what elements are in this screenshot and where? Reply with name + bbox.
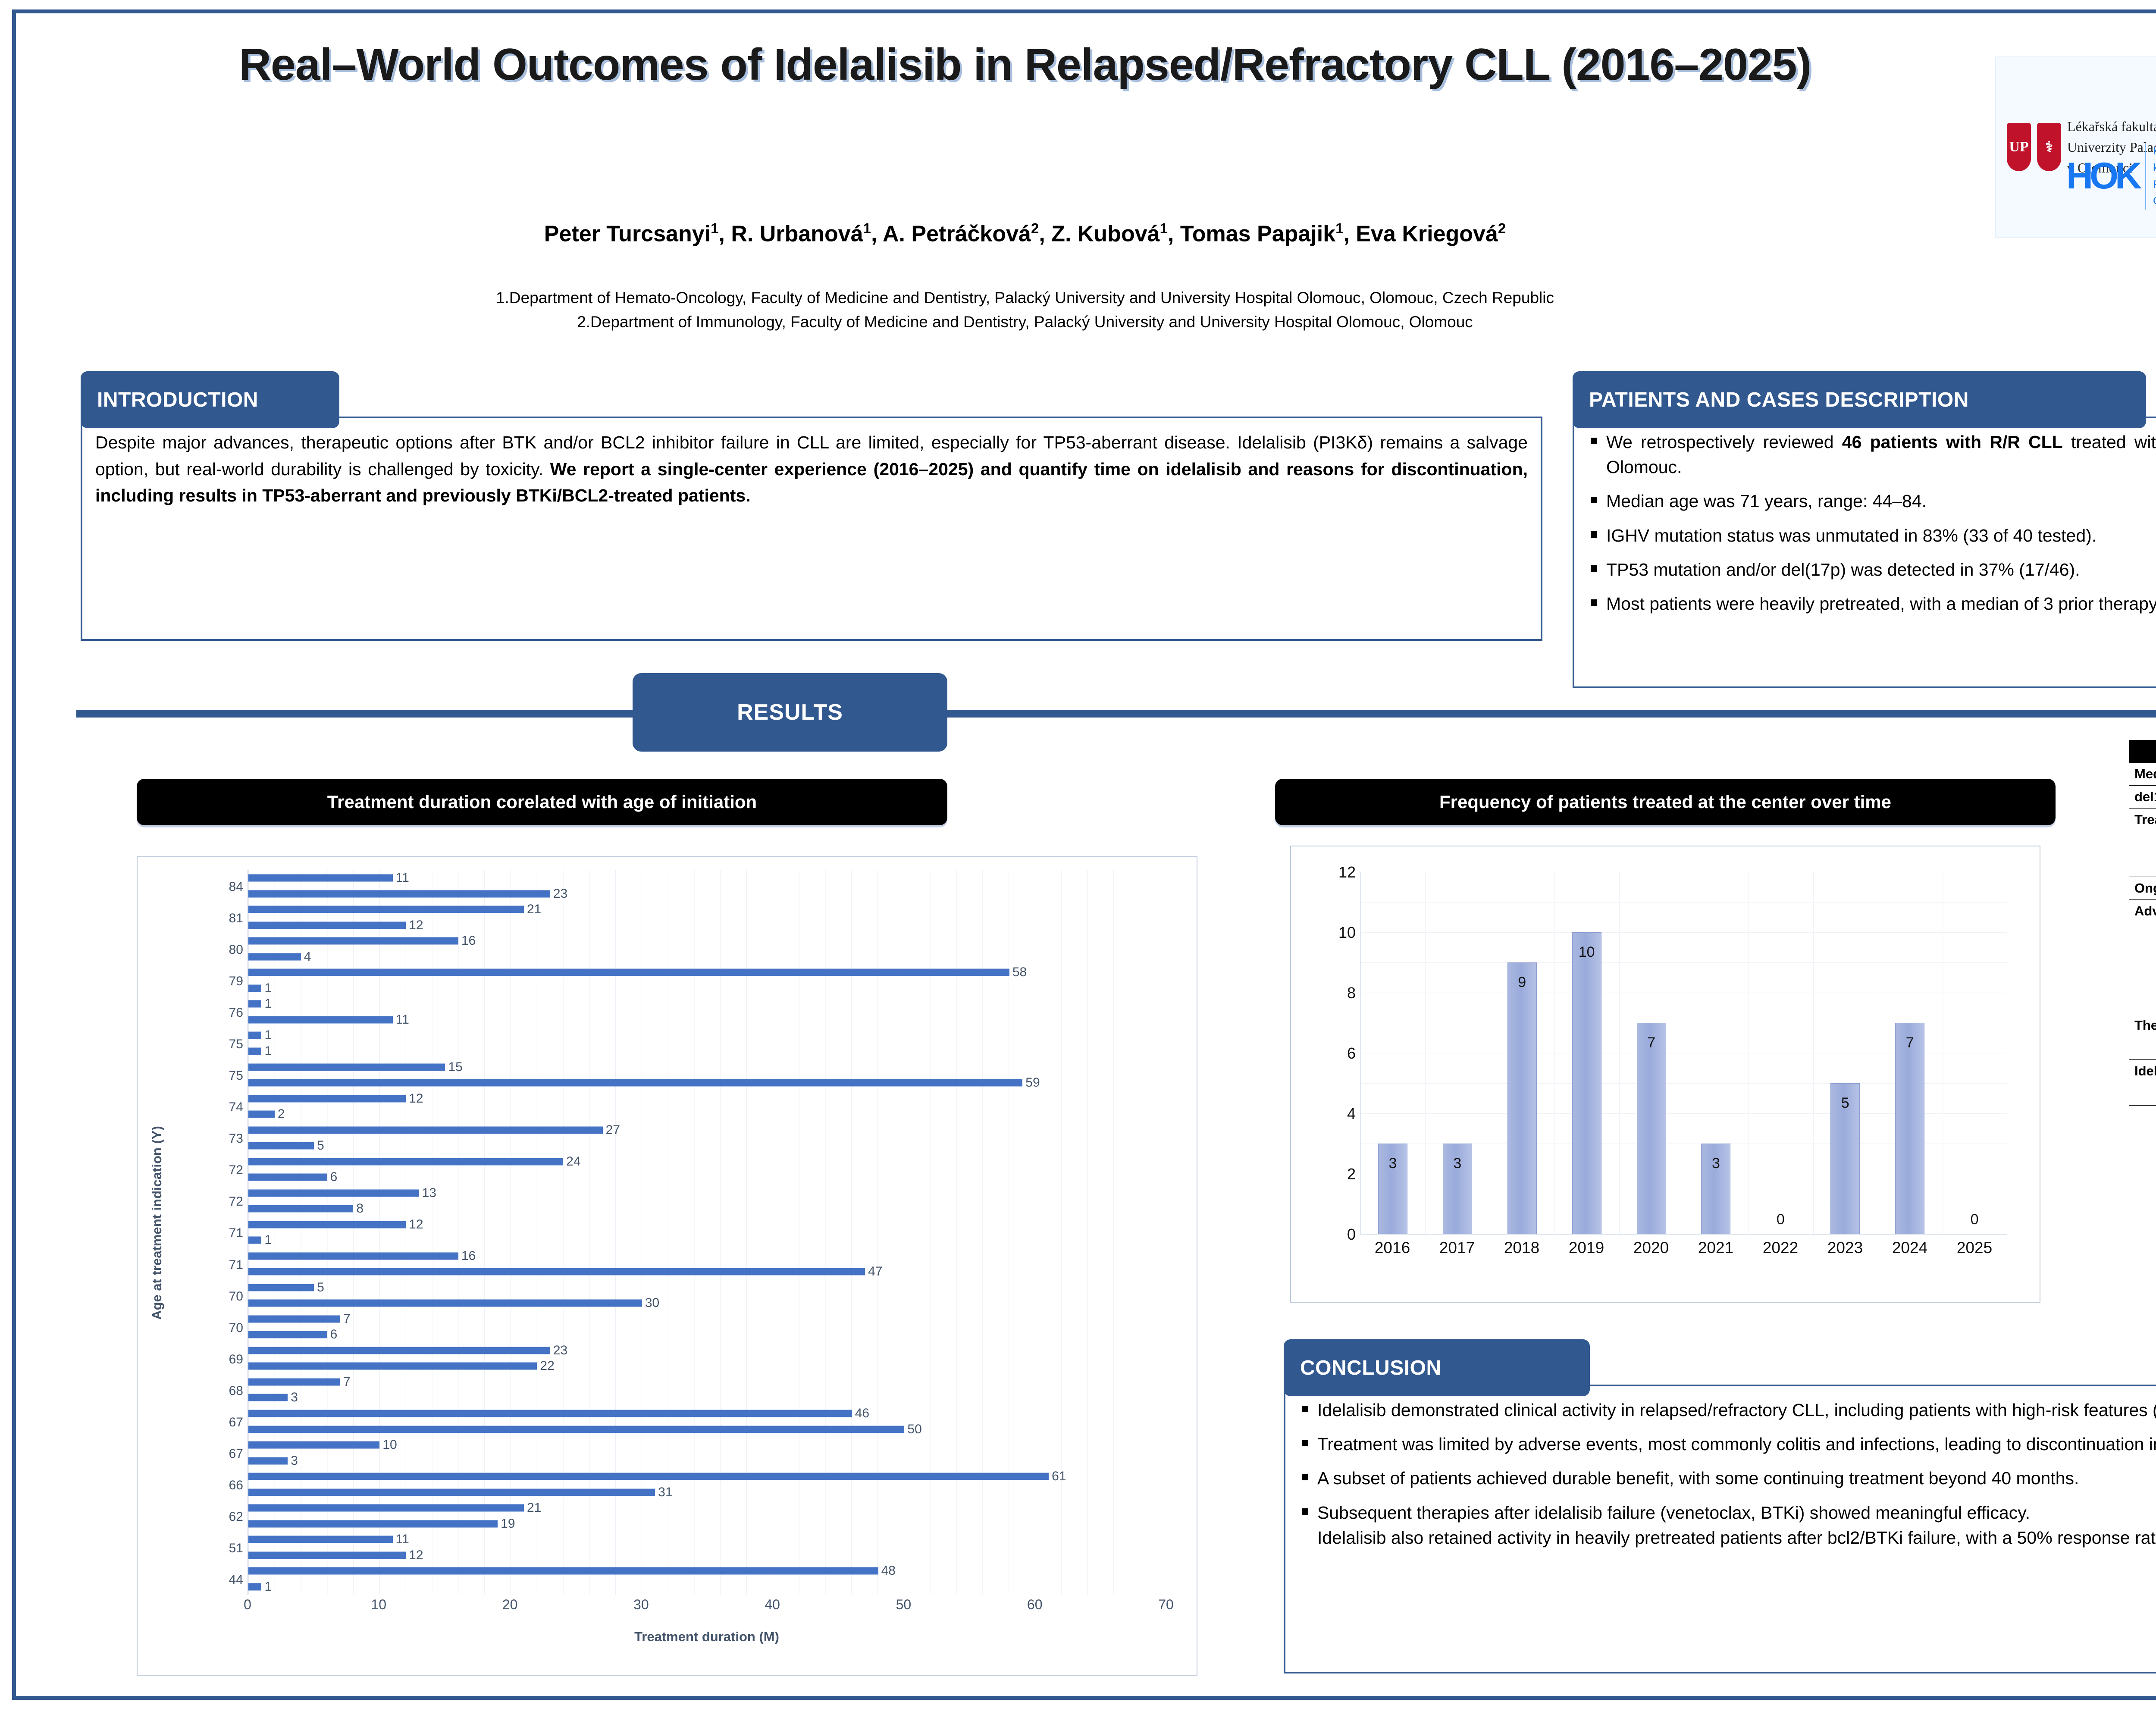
hbar-row: 46 [248,1406,1166,1422]
list-item: We retrospectively reviewed 46 patients … [1587,429,2156,479]
column-slot: 9 [1490,872,1554,1234]
column-x-axis-labels: 2016201720182019202020212022202320242025 [1360,1239,2007,1257]
list-item: IGHV mutation status was unmutated in 83… [1587,523,2156,548]
results-summary-table: Parameter Findings Median treatment dura… [2129,740,2156,1106]
table-row: Treatment discontinued (42 pts)20 PD (4R… [2129,808,2156,831]
table-header-parameter: Parameter [2129,740,2156,763]
hbar-bar [248,1489,655,1496]
hbar-y-tick-label: 71 [229,1226,243,1241]
hbar-value-label: 1 [261,1044,272,1059]
hbar-y-tick-label: 44 [229,1573,243,1587]
hbar-value-label: 22 [537,1359,554,1373]
hbar-bar [248,1504,524,1512]
hbar-row: 31 [248,1484,1166,1500]
column-y-tick-label: 10 [1338,924,1356,942]
hbar-y-tick-label: 68 [229,1384,243,1398]
section-header-patients: PATIENTS AND CASES DESCRIPTION [1573,371,2146,428]
hbar-y-tick-label: 84 [229,880,243,894]
column-x-tick-label: 2023 [1813,1239,1877,1257]
hbar-y-tick-label: 70 [229,1289,243,1304]
clinic-line-4: Olomouc [2153,193,2156,210]
column-x-tick-label: 2021 [1683,1239,1748,1257]
hbar-bar [248,1047,261,1055]
hbar-value-label: 19 [498,1517,515,1531]
list-item: Idelalisib demonstrated clinical activit… [1298,1398,2156,1423]
column-x-tick-label: 2017 [1425,1239,1489,1257]
hbar-row: 1 [248,996,1166,1012]
hok-monogram-icon: HOK [2066,155,2138,197]
hbar-value-label: 21 [524,1501,541,1515]
hbar-x-axis-labels: 010203040506070 [248,1597,1166,1623]
hbar-value-label: 3 [288,1454,298,1468]
hbar-y-tick-label: 76 [229,1006,243,1020]
column-value-label: 5 [1841,1095,1849,1112]
hbar-bar [248,1363,537,1370]
hbar-bar [248,1315,340,1322]
hbar-y-tick-label: 62 [229,1510,243,1524]
hbar-value-label: 1 [261,1028,272,1043]
column-slot: 3 [1360,872,1425,1234]
hbar-bar [248,1551,406,1559]
hbar-row: 10 [248,1437,1166,1453]
hbar-value-label: 1 [261,1579,272,1594]
hbar-bar [248,1237,261,1244]
hbar-value-label: 21 [524,902,541,917]
column-slot: 5 [1813,872,1877,1234]
hbar-value-label: 8 [353,1201,364,1216]
hbar-x-tick-label: 20 [502,1597,518,1613]
hbar-value-label: 16 [458,1249,476,1263]
column-y-axis-labels: 024681012 [1308,872,1356,1235]
hbar-x-tick-label: 50 [896,1597,912,1613]
column-x-tick-label: 2016 [1360,1239,1425,1257]
table-cell-parameter: del17p/p53 subgroup [2129,786,2156,808]
university-line-1: Lékařská fakulta [2067,116,2156,137]
section-body-conclusion: Idelalisib demonstrated clinical activit… [1284,1385,2156,1673]
table-cell-parameter: Therapy after idelalisib failure [2129,1014,2156,1060]
hbar-bar [248,1142,314,1150]
hbar-row: 3 [248,1453,1166,1469]
hbar-row: 21 [248,1500,1166,1516]
table-cell-parameter: Idelalisib after bcl2/BTKi failure [2129,1060,2156,1106]
hbar-value-label: 47 [865,1264,882,1279]
column-x-tick-label: 2024 [1877,1239,1942,1257]
hbar-value-label: 1 [261,997,272,1011]
column-value-label: 10 [1579,944,1595,961]
column-y-tick-label: 6 [1347,1044,1356,1062]
hbar-value-label: 12 [406,1091,423,1106]
hbar-y-axis-labels: 8481807976757574737272717170706968676766… [179,870,243,1595]
hbar-value-label: 7 [340,1312,351,1326]
hbar-value-label: 11 [393,1012,409,1027]
table-cell-parameter: Treatment discontinued (42 pts) [2129,808,2156,877]
list-item: Most patients were heavily pretreated, w… [1587,591,2156,616]
hbar-y-tick-label: 72 [229,1163,243,1178]
hbar-row: 47 [248,1264,1166,1280]
hbar-row: 12 [248,918,1166,934]
poster-canvas: Real–World Outcomes of Idelalisib in Rel… [12,9,2156,1700]
column-bar: 10 [1572,932,1601,1234]
hbar-row: 23 [248,886,1166,902]
chart-treatment-duration-by-age: Age at treatment indication (Y) 84818079… [137,856,1197,1676]
hbar-bar [248,1268,865,1275]
hbar-bar [248,890,550,897]
hbar-bar [248,906,524,913]
clinic-line-1: Hemato–onkologická [2153,143,2156,160]
hbar-bar [248,1095,406,1102]
hbar-row: 61 [248,1469,1166,1485]
hbar-value-label: 11 [393,871,409,885]
hbar-value-label: 7 [340,1375,351,1389]
column-y-tick-label: 8 [1347,984,1356,1002]
hbar-row: 11 [248,1012,1166,1028]
hbar-value-label: 3 [288,1390,298,1405]
hbar-bar [248,1158,563,1165]
hbar-row: 5 [248,1138,1166,1154]
table-body: Median treatment duration (all)17.9 mont… [2129,763,2156,1106]
hbar-value-label: 6 [327,1327,338,1342]
hbar-value-label: 6 [327,1170,338,1185]
results-divider-line [76,710,2156,718]
hbar-row: 27 [248,1122,1166,1138]
hbar-x-tick-label: 10 [371,1597,386,1613]
clinic-line-2: klinika [2153,160,2156,176]
patients-bullet-list: We retrospectively reviewed 46 patients … [1587,429,2156,616]
hbar-value-label: 23 [550,887,567,901]
hbar-y-tick-label: 75 [229,1069,243,1083]
page-title-line1: Real–World Outcomes of Idelalisib in Rel… [239,40,1550,90]
column-bar: 7 [1895,1023,1924,1234]
hbar-bar [248,937,458,945]
hbar-bar [248,1520,498,1527]
hbar-value-label: 4 [301,950,311,964]
hbar-y-tick-label: 67 [229,1447,243,1461]
hbar-bar [248,921,406,929]
section-header-conclusion: CONCLUSION [1284,1339,1590,1396]
column-y-tick-label: 2 [1347,1165,1356,1183]
hbar-bar [248,1063,445,1071]
column-slot: 10 [1554,872,1619,1234]
hbar-value-label: 12 [406,918,423,933]
hbar-row: 48 [248,1563,1166,1579]
hbar-y-tick-label: 81 [229,911,243,926]
hbar-bar [248,1536,393,1543]
hbar-bar [248,1583,261,1590]
up-shield-icon: UP [2007,123,2031,171]
hbar-x-tick-label: 70 [1158,1597,1174,1613]
hbar-bar [248,1331,327,1338]
hbar-bar [248,1284,314,1291]
hbar-value-label: 31 [655,1485,672,1500]
column-value-label: 7 [1906,1034,1914,1051]
hbar-x-tick-label: 30 [633,1597,649,1613]
hbar-value-label: 1 [261,1233,272,1247]
hbar-y-tick-label: 80 [229,943,243,957]
chart-patients-per-year: 024681012 33910730570 201620172018201920… [1290,846,2040,1303]
hbar-value-label: 30 [642,1296,659,1310]
page-title: Real–World Outcomes of Idelalisib in Rel… [81,39,1969,91]
hbar-x-tick-label: 0 [244,1597,251,1613]
column-bar: 3 [1443,1144,1472,1234]
hbar-bar [248,1079,1022,1087]
hbar-value-label: 15 [445,1060,462,1075]
hbar-bar [248,1111,275,1118]
hbar-row: 1 [248,1028,1166,1044]
column-bar: 7 [1637,1023,1666,1234]
hbar-value-label: 10 [379,1438,397,1452]
hbar-row: 1 [248,1044,1166,1059]
column-value-label: 3 [1453,1155,1461,1172]
hbar-value-label: 48 [878,1564,896,1578]
hok-clinic-logo: HOK Hemato–onkologická klinika Fakultní … [2066,143,2156,210]
hbar-y-tick-label: 72 [229,1194,243,1209]
hbar-row: 12 [248,1547,1166,1563]
hbar-bar [248,1410,852,1417]
hbar-value-label: 50 [904,1422,921,1437]
hbar-value-label: 46 [852,1406,869,1421]
hbar-row: 59 [248,1075,1166,1091]
hbar-row: 7 [248,1374,1166,1390]
hbar-y-tick-label: 67 [229,1415,243,1430]
table-cell-parameter: Median treatment duration (all) [2129,763,2156,786]
hbar-bar [248,1032,261,1039]
hbar-bar [248,1252,458,1260]
chart-title-frequency-over-time: Frequency of patients treated at the cen… [1275,779,2056,825]
table-row: Ongoing treatment4 pts, median 40.2 mont… [2129,877,2156,900]
column-value-label: 7 [1647,1034,1655,1051]
hbar-bar [248,1473,1049,1480]
column-value-label: 0 [1777,1211,1785,1228]
clinic-line-3: Fakultní nemocnice [2153,176,2156,193]
table-cell-parameter: Adverse events (46%) [2129,900,2156,1014]
hbar-y-tick-label: 66 [229,1478,243,1493]
hbar-value-label: 11 [393,1532,409,1547]
hbar-row: 5 [248,1280,1166,1296]
hbar-row: 30 [248,1295,1166,1311]
column-bar: 3 [1378,1144,1407,1234]
title-block: Real–World Outcomes of Idelalisib in Rel… [81,39,1969,91]
column-slot: 7 [1877,872,1942,1234]
list-item: Median age was 71 years, range: 44–84. [1587,489,2156,514]
hbar-row: 19 [248,1516,1166,1532]
column-value-label: 3 [1712,1155,1720,1172]
hbar-value-label: 23 [550,1343,567,1358]
hbar-row: 23 [248,1343,1166,1359]
column-plot-area: 33910730570 [1360,872,2007,1235]
column-slot: 3 [1684,872,1749,1234]
hbar-row: 6 [248,1327,1166,1343]
hbar-bar [248,1016,393,1023]
hbar-row: 16 [248,1248,1166,1264]
hbar-value-label: 12 [406,1548,423,1563]
hbar-value-label: 59 [1022,1075,1040,1090]
hbar-row: 11 [248,870,1166,886]
hbar-row: 12 [248,1216,1166,1232]
column-slot: 7 [1619,872,1684,1234]
table-cell-parameter: Ongoing treatment [2129,877,2156,900]
column-slot: 0 [1748,872,1813,1234]
hbar-value-label: 27 [603,1123,620,1138]
hbar-y-tick-label: 74 [229,1100,243,1115]
section-body-introduction: Despite major advances, therapeutic opti… [81,417,1542,641]
hbar-value-label: 61 [1049,1469,1066,1484]
hbar-value-label: 16 [458,934,476,948]
table-header-row: Parameter Findings [2129,740,2156,763]
hbar-bar [248,1426,904,1433]
hbar-bar [248,1378,340,1385]
column-x-tick-label: 2020 [1619,1239,1683,1257]
column-x-tick-label: 2019 [1554,1239,1619,1257]
medical-rod-shield-icon: ⚕ [2037,123,2061,171]
hbar-value-label: 1 [261,981,272,996]
hbar-y-tick-label: 79 [229,974,243,989]
hbar-x-tick-label: 40 [765,1597,780,1613]
section-header-introduction: INTRODUCTION [81,371,339,428]
column-value-label: 3 [1388,1155,1397,1172]
hbar-bar [248,1567,878,1575]
hbar-row: 21 [248,902,1166,918]
column-bar: 3 [1701,1144,1730,1234]
hbar-row: 7 [248,1311,1166,1327]
table-row: Adverse events (46%)Colitis 26% (12) [2129,900,2156,923]
hbar-bar [248,1189,419,1197]
hbar-bar [248,1347,550,1354]
column-value-label: 0 [1971,1211,1979,1228]
hbar-row: 8 [248,1201,1166,1217]
hbar-row: 13 [248,1185,1166,1201]
hbar-x-axis-title: Treatment duration (M) [248,1629,1166,1645]
table-row: Therapy after idelalisib failureVenetocl… [2129,1014,2156,1037]
hbar-row: 4 [248,949,1166,965]
hbar-bar [248,984,261,992]
hbar-row: 1 [248,981,1166,997]
hbar-x-tick-label: 60 [1027,1597,1043,1613]
hbar-value-label: 5 [314,1138,324,1153]
hbar-value-label: 12 [406,1217,423,1232]
hbar-bar [248,1126,603,1134]
column-slot: 0 [1942,872,2007,1234]
hbar-y-tick-label: 75 [229,1037,243,1052]
affiliations: 1.Department of Hemato-Oncology, Faculty… [81,286,1969,334]
hbar-row: 24 [248,1153,1166,1169]
column-y-tick-label: 0 [1347,1225,1356,1244]
hbar-row: 22 [248,1358,1166,1374]
hbar-bar [248,1442,379,1449]
hbar-value-label: 13 [419,1186,436,1200]
list-item: Subsequent therapies after idelalisib fa… [1298,1500,2156,1550]
table-row: del17p/p53 subgroup20.1 months (1-58) [2129,786,2156,808]
hbar-bar [248,874,393,882]
page-title-line2: (2016–2025) [1561,40,1811,90]
column-x-tick-label: 2025 [1942,1239,2007,1257]
column-bar: 5 [1830,1083,1860,1234]
hbar-bar [248,1221,406,1228]
list-item: Treatment was limited by adverse events,… [1298,1432,2156,1457]
section-header-results: RESULTS [633,673,947,752]
hbar-value-label: 5 [314,1280,324,1295]
hbar-bar [248,1300,642,1307]
hbar-bar [248,1000,261,1008]
conclusion-bullet-list: Idelalisib demonstrated clinical activit… [1298,1398,2156,1550]
column-x-tick-label: 2022 [1748,1239,1813,1257]
hbar-row: 2 [248,1106,1166,1122]
hbar-y-tick-label: 69 [229,1352,243,1367]
column-slot: 3 [1425,872,1490,1234]
hbar-row: 58 [248,965,1166,981]
hbar-bar [248,1174,327,1181]
hbar-row: 12 [248,1091,1166,1106]
introduction-paragraph: Despite major advances, therapeutic opti… [95,429,1528,509]
column-value-label: 9 [1518,974,1526,991]
hbar-y-tick-label: 70 [229,1321,243,1335]
list-item: A subset of patients achieved durable be… [1298,1466,2156,1491]
chart-title-treatment-duration: Treatment duration corelated with age of… [137,779,947,825]
hbar-plot-area: 1123211216458111111155912227524613812116… [248,870,1166,1595]
clinic-logo-text: Hemato–onkologická klinika Fakultní nemo… [2145,143,2156,210]
hbar-row: 1 [248,1232,1166,1248]
hbar-y-tick-label: 51 [229,1541,243,1556]
table-row: Idelalisib after bcl2/BTKi failure10 pts… [2129,1060,2156,1083]
section-body-patients: We retrospectively reviewed 46 patients … [1573,417,2156,688]
list-item: TP53 mutation and/or del(17p) was detect… [1587,557,2156,582]
hbar-bar [248,1205,353,1213]
hbar-value-label: 2 [275,1107,285,1122]
hbar-row: 6 [248,1169,1166,1185]
hbar-row: 1 [248,1579,1166,1595]
hbar-y-tick-label: 73 [229,1131,243,1146]
hbar-bar [248,953,301,960]
author-list: Peter Turcsanyi1, R. Urbanová1, A. Petrá… [81,220,1969,247]
column-y-tick-label: 4 [1347,1105,1356,1123]
table-row: Median treatment duration (all)17.9 mont… [2129,763,2156,786]
hbar-y-tick-label: 71 [229,1258,243,1272]
column-y-tick-label: 12 [1338,863,1356,881]
hbar-row: 11 [248,1532,1166,1548]
hbar-bar [248,1394,288,1401]
column-bar: 9 [1507,962,1537,1234]
hbar-row: 3 [248,1390,1166,1406]
hbar-row: 16 [248,933,1166,949]
hbar-value-label: 24 [563,1154,580,1169]
hbar-value-label: 58 [1009,965,1027,980]
hbar-row: 50 [248,1421,1166,1437]
hbar-y-axis-title: Age at treatment indication (Y) [149,1072,165,1374]
affiliation-2: 2.Department of Immunology, Faculty of M… [81,310,1969,334]
affiliation-1: 1.Department of Hemato-Oncology, Faculty… [81,286,1969,310]
hbar-bar [248,969,1009,976]
hbar-bar [248,1457,288,1464]
hbar-row: 15 [248,1059,1166,1075]
column-x-tick-label: 2018 [1489,1239,1554,1257]
